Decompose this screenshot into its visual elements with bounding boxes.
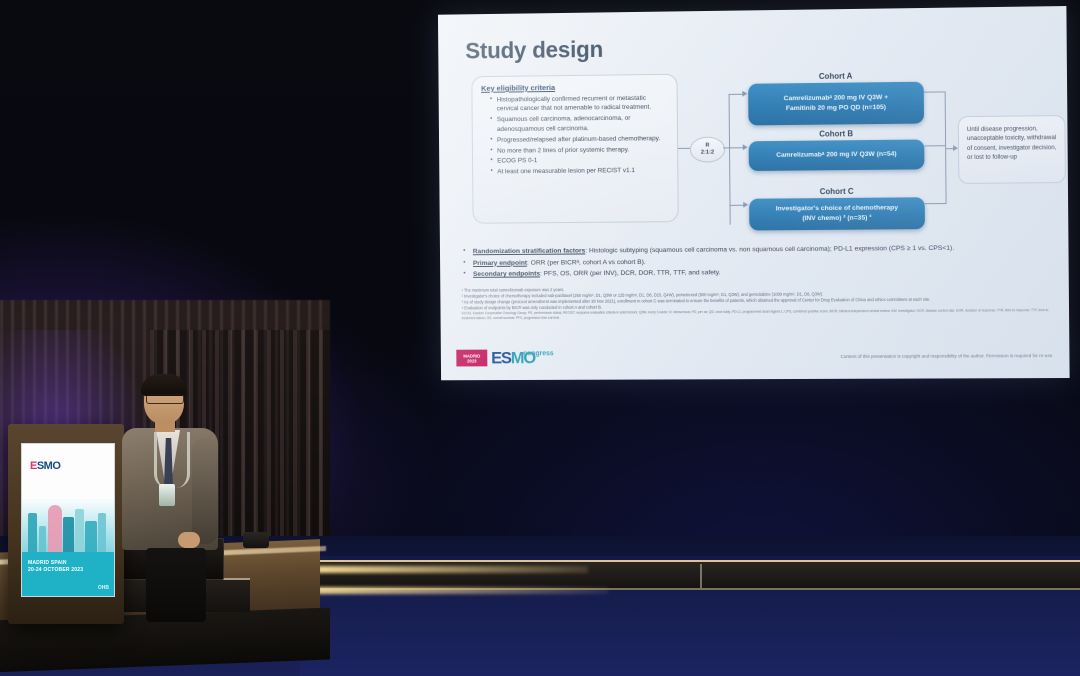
list-item: Progressed/relapsed after platinum-based…	[490, 134, 668, 145]
presenter-lanyard	[154, 432, 190, 488]
eligibility-heading: Key eligibility criteria	[481, 82, 668, 93]
stage-riser-seam	[700, 564, 702, 588]
cohort-c-treatment: Investigator's choice of chemotherapy (I…	[749, 197, 925, 230]
panel-location: MADRID SPAIN	[28, 560, 83, 567]
connector-bus-to-c	[730, 205, 744, 206]
cohort-c-label: Cohort C	[749, 186, 925, 196]
madrid-badge-line2: 2023	[467, 358, 476, 363]
eligibility-list: Histopathologically confirmed recurrent …	[481, 94, 668, 178]
connector-c-out	[925, 203, 947, 205]
eligibility-criteria-box: Key eligibility criteria Histopathologic…	[471, 74, 678, 224]
panel-location-date: MADRID SPAIN 20-24 OCTOBER 2023	[28, 560, 83, 574]
cohort-b-label: Cohort B	[749, 129, 925, 140]
bullet-randomization-rest: : Histologic subtyping (squamous cell ca…	[585, 245, 954, 255]
cohort-a-line2: Famitinib 20 mg PO QD (n=105)	[756, 103, 916, 114]
bullet-primary-lead: Primary endpoint	[473, 259, 527, 266]
study-design-diagram: Key eligibility criteria Histopathologic…	[460, 67, 1053, 241]
presenter-badge	[159, 484, 175, 506]
cohort-c-line2: (INV chemo) ² (n=35) ³	[757, 213, 917, 224]
list-item: Histopathologically confirmed recurrent …	[490, 94, 668, 115]
cohort-b-line1: Camrelizumabᵃ 200 mg IV Q3W (n=54)	[776, 150, 897, 161]
treatment-duration-box: Until disease progression, unacceptable …	[958, 115, 1066, 184]
cohort-b: Cohort B Camrelizumabᵃ 200 mg IV Q3W (n=…	[749, 129, 925, 171]
cohort-a-label: Cohort A	[748, 71, 924, 82]
list-item: No more than 2 lines of prior systemic t…	[490, 145, 668, 156]
list-item: Squamous cell carcinoma, adenocarcinoma,…	[490, 114, 668, 134]
connector-bus-to-b	[729, 147, 743, 149]
randomization-ratio: 2:1:2	[701, 150, 714, 157]
slide-bullets: Randomization stratification factors: Hi…	[461, 242, 1055, 281]
glasses-icon	[146, 394, 184, 404]
connector-elig-to-r	[678, 148, 690, 149]
presenter	[120, 372, 224, 622]
connector-bus-to-a	[729, 94, 743, 96]
panel-date: 20-24 OCTOBER 2023	[28, 567, 83, 574]
randomization-label: R	[705, 143, 709, 150]
madrid-skyline-illustration	[22, 484, 114, 554]
arrow-to-cohort-c	[743, 202, 748, 208]
presenter-arm	[192, 438, 218, 544]
slide-title: Study design	[465, 30, 1051, 64]
slide-content: Study design Key eligibility criteria Hi…	[438, 6, 1070, 380]
cohort-b-treatment: Camrelizumabᵃ 200 mg IV Q3W (n=54)	[749, 139, 925, 171]
esmo-logo: MADRID 2023 ESMO congress	[456, 349, 553, 366]
connector-b-out	[924, 145, 946, 147]
riser-light-strip-upper	[318, 566, 588, 573]
copyright-notice: Content of this presentation is copyrigh…	[841, 353, 1054, 359]
randomization-node: R 2:1:2	[690, 137, 725, 163]
list-item: ECOG PS 0-1	[490, 155, 668, 166]
abbreviations-line: ECOG, Eastern Cooperative Oncology Group…	[462, 308, 1051, 321]
list-item: At least one measurable lesion per RECIS…	[490, 166, 668, 177]
panel-corner-mark: OHB	[98, 585, 109, 591]
bullet-secondary-rest: : PFS, OS, ORR (per INV), DCR, DOR, TTR,…	[540, 270, 721, 278]
presenter-legs	[146, 548, 206, 622]
slide-footnotes: ¹ The maximum total camrelizumab exposur…	[462, 284, 1052, 321]
panel-esmo-logo: ESMO	[30, 456, 104, 470]
arrow-to-cohort-b	[743, 144, 748, 150]
esmo-wordmark-a: ES	[491, 349, 511, 368]
congress-suffix: congress	[523, 350, 553, 357]
panel-logo-text: ESMO	[30, 460, 60, 472]
projection-screen: Study design Key eligibility criteria Hi…	[438, 6, 1070, 380]
cohort-a-treatment: Camrelizumabᵃ 200 mg IV Q3W + Famitinib …	[748, 82, 924, 126]
cohort-a: Cohort A Camrelizumabᵃ 200 mg IV Q3W + F…	[748, 71, 924, 126]
cohort-c: Cohort C Investigator's choice of chemot…	[749, 186, 925, 230]
photo-of-conference-stage: ESMO MADRID SPAIN 20-24 OCTOBER 2023 OHB	[0, 0, 1080, 676]
bullet-primary-rest: : ORR (per BICRᵃ, cohort A vs cohort B).	[527, 259, 646, 267]
bullet-secondary-lead: Secondary endpoints	[473, 271, 540, 278]
presenter-hair	[141, 374, 187, 396]
connector-a-out	[924, 91, 946, 93]
lectern-branding-panel: ESMO MADRID SPAIN 20-24 OCTOBER 2023 OHB	[21, 443, 115, 597]
arrow-to-cohort-a	[742, 91, 747, 97]
presenter-hand	[178, 532, 200, 548]
madrid-badge: MADRID 2023	[456, 350, 487, 367]
slide-surface: Study design Key eligibility criteria Hi…	[438, 6, 1070, 380]
bullet-randomization-lead: Randomization stratification factors	[473, 248, 586, 256]
riser-light-strip-lower	[318, 587, 608, 594]
stage-riser	[300, 560, 1080, 590]
stage-speaker-box	[243, 532, 269, 548]
